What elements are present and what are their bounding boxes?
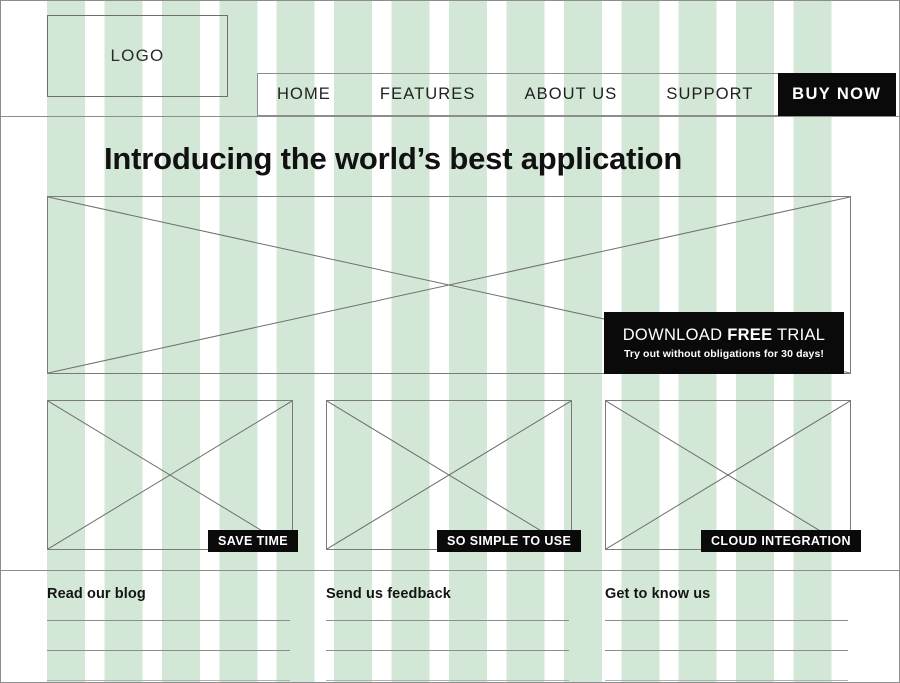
footer-rule bbox=[47, 650, 290, 651]
placeholder-cross-icon bbox=[606, 401, 850, 549]
nav-item-features[interactable]: FEATURES bbox=[380, 85, 500, 104]
footer-column-feedback: Send us feedback bbox=[326, 586, 569, 681]
nav-item-about-us[interactable]: ABOUT US bbox=[525, 85, 642, 104]
main-navigation: HOME FEATURES ABOUT US SUPPORT BUY NOW bbox=[257, 73, 896, 116]
nav-item-list: HOME FEATURES ABOUT US SUPPORT bbox=[258, 74, 778, 115]
page-frame-left bbox=[0, 0, 1, 683]
cta-title-strong: FREE bbox=[727, 326, 772, 344]
footer-rule bbox=[47, 680, 290, 681]
footer-rule bbox=[47, 620, 290, 621]
cta-title-prefix: DOWNLOAD bbox=[623, 326, 727, 344]
header-divider bbox=[0, 116, 900, 117]
wireframe-page: LOGO HOME FEATURES ABOUT US SUPPORT BUY … bbox=[0, 0, 900, 683]
nav-item-support[interactable]: SUPPORT bbox=[666, 85, 777, 104]
footer-rule bbox=[605, 680, 848, 681]
cta-subtitle: Try out without obligations for 30 days! bbox=[624, 348, 824, 360]
feature-card-3-caption: CLOUD INTEGRATION bbox=[701, 530, 861, 552]
footer-rule bbox=[605, 620, 848, 621]
logo-placeholder[interactable]: LOGO bbox=[47, 15, 228, 97]
placeholder-cross-icon bbox=[327, 401, 571, 549]
cta-title: DOWNLOAD FREE TRIAL bbox=[623, 326, 826, 344]
feature-card-2-image[interactable] bbox=[326, 400, 572, 550]
footer-rule bbox=[326, 620, 569, 621]
placeholder-cross-icon bbox=[48, 401, 292, 549]
footer-column-title[interactable]: Read our blog bbox=[47, 586, 290, 602]
footer-rule bbox=[605, 650, 848, 651]
footer-column-blog: Read our blog bbox=[47, 586, 290, 681]
nav-item-home[interactable]: HOME bbox=[277, 85, 355, 104]
download-free-trial-cta[interactable]: DOWNLOAD FREE TRIAL Try out without obli… bbox=[604, 312, 844, 374]
footer-rule bbox=[326, 680, 569, 681]
feature-card-1-caption: SAVE TIME bbox=[208, 530, 298, 552]
feature-card-2-caption: SO SIMPLE TO USE bbox=[437, 530, 581, 552]
footer-rule bbox=[326, 650, 569, 651]
logo-label: LOGO bbox=[111, 46, 165, 66]
cta-title-suffix: TRIAL bbox=[772, 326, 825, 344]
page-frame-top bbox=[0, 0, 900, 1]
feature-card-3-image[interactable] bbox=[605, 400, 851, 550]
buy-now-button[interactable]: BUY NOW bbox=[778, 73, 896, 116]
footer-column-title[interactable]: Send us feedback bbox=[326, 586, 569, 602]
footer-top-divider bbox=[0, 570, 900, 571]
footer-column-title[interactable]: Get to know us bbox=[605, 586, 848, 602]
feature-card-1-image[interactable] bbox=[47, 400, 293, 550]
footer-column-about: Get to know us bbox=[605, 586, 848, 681]
page-headline: Introducing the world’s best application bbox=[104, 141, 682, 177]
